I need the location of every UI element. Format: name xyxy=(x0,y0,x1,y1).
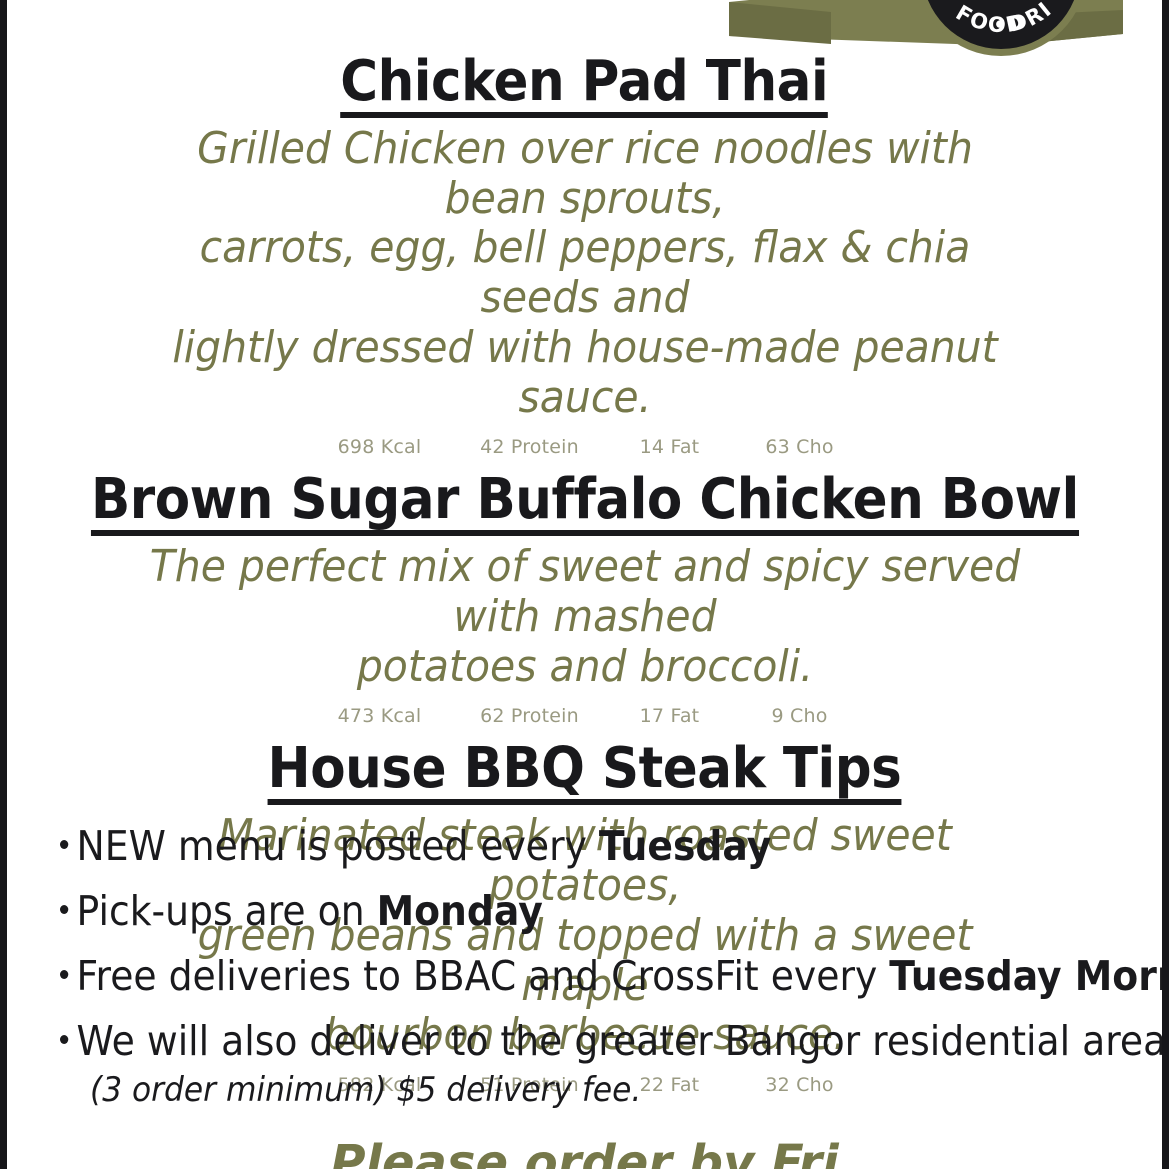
bullet-dot xyxy=(60,840,68,849)
bullet-dot xyxy=(60,970,68,979)
menu-item-title: Brown Sugar Buffalo Chicken Bowl xyxy=(91,472,1079,536)
right-frame-bar xyxy=(1162,0,1169,1169)
note-text: Free deliveries to BBAC and CrossFit eve… xyxy=(77,952,890,1000)
note-bullet: We will also deliver to the greater Bang… xyxy=(60,1021,1062,1062)
menu-item: Chicken Pad Thai Grilled Chicken over ri… xyxy=(7,0,1162,458)
description-line: Grilled Chicken over rice noodles with b… xyxy=(152,124,1017,223)
menu-item: Brown Sugar Buffalo Chicken Bowl The per… xyxy=(7,458,1162,727)
description-line: carrots, egg, bell peppers, flax & chia … xyxy=(152,223,1017,322)
nutrition-cho: 63 Cho xyxy=(735,436,865,458)
nutrition-kcal: 473 Kcal xyxy=(305,705,455,727)
note-text: We will also deliver to the greater Bang… xyxy=(77,1017,1167,1065)
nutrition-protein: 42 Protein xyxy=(455,436,605,458)
note-subtext: (3 order minimum) $5 delivery fee. xyxy=(90,1070,1064,1110)
note-text: NEW menu is posted every xyxy=(77,822,599,870)
nutrition-cho: 9 Cho xyxy=(735,705,865,727)
nutrition-fat: 17 Fat xyxy=(605,705,735,727)
brand-logo: FOOD • DRINK xyxy=(711,0,1131,64)
menu-item-title: House BBQ Steak Tips xyxy=(268,741,902,805)
description-line: lightly dressed with house-made peanut s… xyxy=(152,323,1017,422)
bottom-clipped-heading: Please order by Fri xyxy=(7,1139,1162,1169)
description-line: The perfect mix of sweet and spicy serve… xyxy=(133,542,1035,641)
note-bullet: NEW menu is posted every Tuesday xyxy=(60,826,1062,867)
nutrition-kcal: 698 Kcal xyxy=(305,436,455,458)
nutrition-fat: 14 Fat xyxy=(605,436,735,458)
left-frame-bar xyxy=(0,0,7,1169)
bullet-dot xyxy=(60,905,68,914)
nutrition-protein: 62 Protein xyxy=(455,705,605,727)
badge-separator-dot: • xyxy=(993,13,1008,37)
note-bullet: Pick-ups are on Monday xyxy=(60,891,1062,932)
note-text: Pick-ups are on xyxy=(77,887,377,935)
note-emphasis: Tuesday xyxy=(599,822,771,870)
description-line: potatoes and broccoli. xyxy=(133,642,1035,692)
note-emphasis: Tuesday Morning xyxy=(889,952,1169,1000)
note-bullet: Free deliveries to BBAC and CrossFit eve… xyxy=(60,956,1062,997)
nutrition-row: 473 Kcal 62 Protein 17 Fat 9 Cho xyxy=(7,705,1162,727)
notes-section: NEW menu is posted every Tuesday Pick-up… xyxy=(60,826,1149,1110)
nutrition-row: 698 Kcal 42 Protein 14 Fat 63 Cho xyxy=(7,436,1162,458)
menu-page: FOOD • DRINK Chicken Pad Thai Grilled Ch… xyxy=(0,0,1169,1169)
bottom-clipped-text: Please order by Fri xyxy=(7,1139,1162,1169)
menu-item-description: Grilled Chicken over rice noodles with b… xyxy=(152,124,1017,422)
note-emphasis: Monday xyxy=(377,887,543,935)
menu-item-description: The perfect mix of sweet and spicy serve… xyxy=(133,542,1035,691)
bullet-dot xyxy=(60,1035,68,1044)
